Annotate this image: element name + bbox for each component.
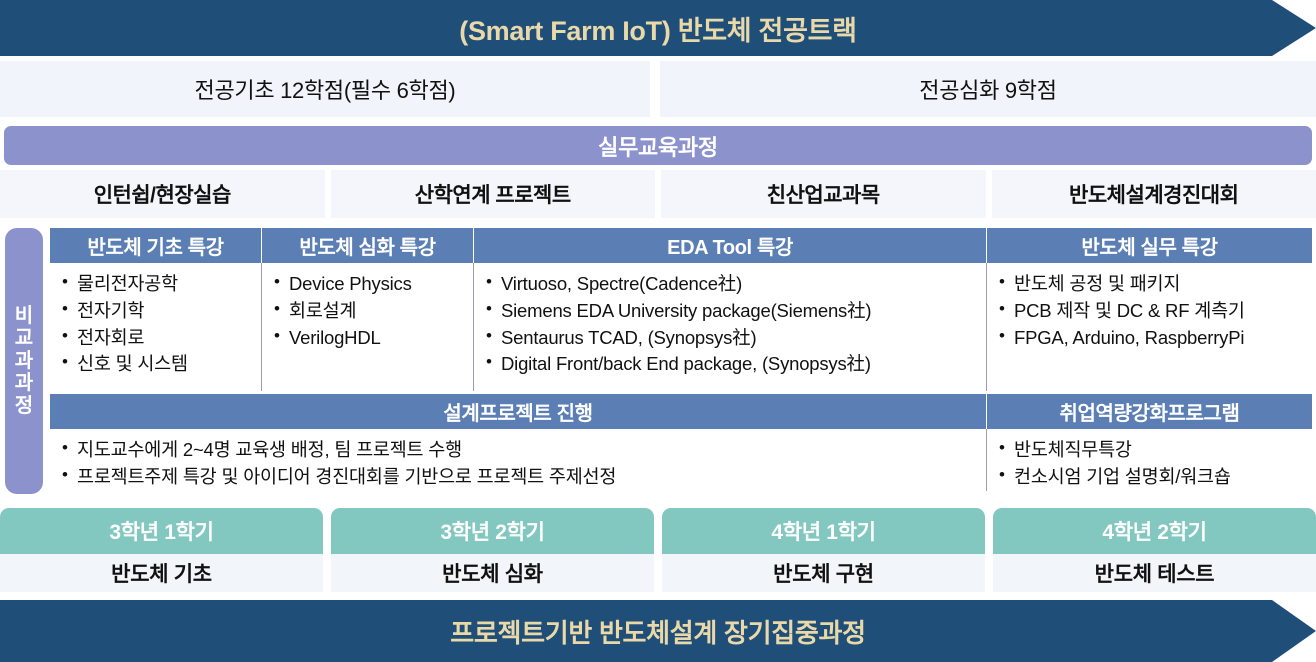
list-eda-tool: Virtuoso, Spectre(Cadence社) Siemens EDA … <box>484 271 976 378</box>
semester-card-y3s1: 3학년 1학기 반도체 기초 <box>0 508 323 592</box>
list-item: VerilogHDL <box>272 325 463 352</box>
semester-term-y4s1: 4학년 1학기 <box>662 508 985 554</box>
semester-term-y3s1: 3학년 1학기 <box>0 508 323 554</box>
table-header-row-1: 반도체 기초 특강 반도체 심화 특강 EDA Tool 특강 반도체 실무 특… <box>50 228 1312 263</box>
practical-column-design-contest: 반도체설계경진대회 <box>992 170 1316 218</box>
header-practical-lecture: 반도체 실무 특강 <box>987 228 1312 263</box>
credit-basic-label: 전공기초 12학점(필수 6학점) <box>195 73 456 105</box>
list-item: FPGA, Arduino, RaspberryPi <box>997 325 1302 352</box>
list-item: 물리전자공학 <box>60 271 251 298</box>
header-advanced-lecture: 반도체 심화 특강 <box>262 228 474 263</box>
table-header-row-2: 설계프로젝트 진행 취업역량강화프로그램 <box>50 394 1312 429</box>
sidebar-char-1: 비 <box>15 305 33 327</box>
semester-term-y3s2: 3학년 2학기 <box>331 508 654 554</box>
practical-column-industry-project-label: 산학연계 프로젝트 <box>415 179 571 209</box>
list-item: 컨소시엄 기업 설명회/워크숍 <box>997 464 1302 491</box>
list-item: Virtuoso, Spectre(Cadence社) <box>484 271 976 298</box>
semester-subject-y3s2: 반도체 심화 <box>331 554 654 592</box>
header-career-program-label: 취업역량강화프로그램 <box>1060 397 1240 426</box>
credit-basic-cell: 전공기초 12학점(필수 6학점) <box>0 61 650 117</box>
table-body-row-1: 물리전자공학 전자기학 전자회로 신호 및 시스템 Device Physics… <box>50 263 1312 391</box>
list-design-project: 지도교수에게 2~4명 교육생 배정, 팀 프로젝트 수행 프로젝트주제 특강 … <box>60 437 976 491</box>
practical-column-industry-project: 산학연계 프로젝트 <box>331 170 656 218</box>
list-item: Sentaurus TCAD, (Synopsys社) <box>484 325 976 352</box>
list-item: 회로설계 <box>272 298 463 325</box>
sidebar-char-2: 교 <box>15 327 33 349</box>
list-item: 프로젝트주제 특강 및 아이디어 경진대회를 기반으로 프로젝트 주제선정 <box>60 464 976 491</box>
practical-columns-row: 인턴쉽/현장실습 산학연계 프로젝트 친산업교과목 반도체설계경진대회 <box>0 170 1316 218</box>
semester-subject-y3s1: 반도체 기초 <box>0 554 323 592</box>
sidebar-char-3: 과 <box>15 350 33 372</box>
header-design-project: 설계프로젝트 진행 <box>50 394 987 429</box>
practical-column-industry-friendly-course: 친산업교과목 <box>661 170 986 218</box>
table-body-row-2: 지도교수에게 2~4명 교육생 배정, 팀 프로젝트 수행 프로젝트주제 특강 … <box>50 429 1312 491</box>
cell-career-program: 반도체직무특강 컨소시엄 기업 설명회/워크숍 <box>987 429 1312 491</box>
noncurricular-table: 반도체 기초 특강 반도체 심화 특강 EDA Tool 특강 반도체 실무 특… <box>50 228 1312 494</box>
cell-eda-tool: Virtuoso, Spectre(Cadence社) Siemens EDA … <box>474 263 987 391</box>
list-item: 지도교수에게 2~4명 교육생 배정, 팀 프로젝트 수행 <box>60 437 976 464</box>
list-item: 전자회로 <box>60 325 251 352</box>
list-advanced-lecture: Device Physics 회로설계 VerilogHDL <box>272 271 463 351</box>
practical-education-label: 실무교육과정 <box>598 130 718 162</box>
list-item: 반도체직무특강 <box>997 437 1302 464</box>
cell-design-project: 지도교수에게 2~4명 교육생 배정, 팀 프로젝트 수행 프로젝트주제 특강 … <box>50 429 987 491</box>
practical-column-internship: 인턴쉽/현장실습 <box>0 170 325 218</box>
header-practical-lecture-label: 반도체 실무 특강 <box>1081 231 1217 260</box>
list-basic-lecture: 물리전자공학 전자기학 전자회로 신호 및 시스템 <box>60 271 251 378</box>
credit-advanced-label: 전공심화 9학점 <box>919 73 1056 105</box>
bottom-title-text: 프로젝트기반 반도체설계 장기집중과정 <box>450 613 865 650</box>
list-item: 신호 및 시스템 <box>60 351 251 378</box>
semester-row: 3학년 1학기 반도체 기초 3학년 2학기 반도체 심화 4학년 1학기 반도… <box>0 508 1316 592</box>
semester-subject-y4s1: 반도체 구현 <box>662 554 985 592</box>
cell-basic-lecture: 물리전자공학 전자기학 전자회로 신호 및 시스템 <box>50 263 262 391</box>
list-practical-lecture: 반도체 공정 및 패키지 PCB 제작 및 DC & RF 계측기 FPGA, … <box>997 271 1302 351</box>
sidebar-char-5: 정 <box>15 395 33 417</box>
credit-row: 전공기초 12학점(필수 6학점) 전공심화 9학점 <box>0 61 1316 117</box>
top-title-text: (Smart Farm IoT) 반도체 전공트랙 <box>459 9 856 48</box>
list-item: 전자기학 <box>60 298 251 325</box>
sidebar-char-4: 과 <box>15 372 33 394</box>
cell-advanced-lecture: Device Physics 회로설계 VerilogHDL <box>262 263 474 391</box>
header-design-project-label: 설계프로젝트 진행 <box>443 397 592 426</box>
list-item: Siemens EDA University package(Siemens社) <box>484 298 976 325</box>
semester-term-y4s2: 4학년 2학기 <box>993 508 1316 554</box>
header-career-program: 취업역량강화프로그램 <box>987 394 1312 429</box>
credit-advanced-cell: 전공심화 9학점 <box>660 61 1316 117</box>
header-eda-tool-label: EDA Tool 특강 <box>667 231 793 260</box>
list-item: Device Physics <box>272 271 463 298</box>
practical-column-design-contest-label: 반도체설계경진대회 <box>1069 179 1238 209</box>
cell-practical-lecture: 반도체 공정 및 패키지 PCB 제작 및 DC & RF 계측기 FPGA, … <box>987 263 1312 391</box>
list-career-program: 반도체직무특강 컨소시엄 기업 설명회/워크숍 <box>997 437 1302 491</box>
noncurricular-sidebar: 비 교 과 과 정 <box>5 228 43 494</box>
header-eda-tool: EDA Tool 특강 <box>474 228 987 263</box>
semester-card-y4s1: 4학년 1학기 반도체 구현 <box>662 508 985 592</box>
bottom-title-banner: 프로젝트기반 반도체설계 장기집중과정 <box>0 600 1316 662</box>
practical-column-internship-label: 인턴쉽/현장실습 <box>94 179 231 209</box>
header-advanced-lecture-label: 반도체 심화 특강 <box>299 231 435 260</box>
semester-subject-y4s2: 반도체 테스트 <box>993 554 1316 592</box>
top-title-banner: (Smart Farm IoT) 반도체 전공트랙 <box>0 0 1316 56</box>
practical-education-banner: 실무교육과정 <box>4 126 1312 165</box>
list-item: Digital Front/back End package, (Synopsy… <box>484 351 976 378</box>
header-basic-lecture: 반도체 기초 특강 <box>50 228 262 263</box>
header-basic-lecture-label: 반도체 기초 특강 <box>87 231 223 260</box>
list-item: 반도체 공정 및 패키지 <box>997 271 1302 298</box>
semester-card-y3s2: 3학년 2학기 반도체 심화 <box>331 508 654 592</box>
list-item: PCB 제작 및 DC & RF 계측기 <box>997 298 1302 325</box>
curriculum-diagram: (Smart Farm IoT) 반도체 전공트랙 전공기초 12학점(필수 6… <box>0 0 1316 662</box>
practical-column-industry-friendly-course-label: 친산업교과목 <box>767 179 880 209</box>
semester-card-y4s2: 4학년 2학기 반도체 테스트 <box>993 508 1316 592</box>
